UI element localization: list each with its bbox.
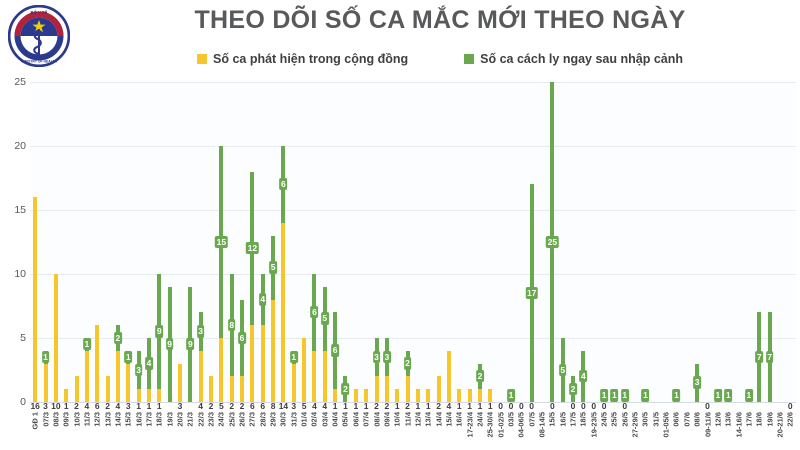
x-axis-tick-label: 10/4	[393, 412, 402, 427]
x-axis-tick: 16/5	[558, 412, 568, 450]
bar-value-label-community: 6	[247, 402, 257, 411]
bar-value-label-quarantine: 2	[404, 357, 412, 370]
bar-column[interactable]: 1	[723, 82, 733, 402]
bar-value-label-community: 2	[237, 402, 247, 411]
bar-column[interactable]: 15	[216, 82, 226, 402]
x-axis-tick: 24/5	[599, 412, 609, 450]
bar-value-label-community: 0	[547, 402, 557, 411]
x-axis-tick-label: 29/3	[269, 412, 278, 427]
x-axis-tick-label: 26/5	[620, 412, 629, 427]
bar-value-label-community: 1	[423, 402, 433, 411]
bar-value-label-quarantine: 3	[383, 351, 391, 364]
x-axis-tick: 13/4	[423, 412, 433, 450]
x-axis-tick-label: 14/4	[434, 412, 443, 427]
x-axis-tick-label: 11/3	[82, 412, 91, 426]
chart-legend: Số ca phát hiện trong cộng đồng Số ca cá…	[90, 52, 790, 66]
chart-header: BỘ Y TẾ MINISTRY OF HEALTH THEO DÕI SỐ C…	[0, 0, 800, 78]
bar-value-label-quarantine: 4	[259, 293, 267, 306]
x-axis-tick: 27-29/5	[630, 412, 640, 450]
bar-column[interactable]: 2	[568, 82, 578, 402]
x-axis-tick-label: 18/3	[155, 412, 164, 427]
x-axis-tick-label: 15/5	[548, 412, 557, 427]
x-axis-tick: 08-14/5	[537, 412, 547, 450]
bar-value-label-community: 14	[278, 402, 288, 411]
bar-column[interactable]	[516, 82, 526, 402]
x-axis-tick: 30/5	[640, 412, 650, 450]
x-axis-tick: 19/3	[164, 412, 174, 450]
bar-column[interactable]	[682, 82, 692, 402]
bar-value-label-quarantine: 3	[693, 376, 701, 389]
x-axis-tick-label: 25/5	[610, 412, 619, 427]
x-axis-tick: 17/5	[568, 412, 578, 450]
x-axis-tick: 24/4	[475, 412, 485, 450]
x-axis-tick: 07/3	[40, 412, 50, 450]
bar-value-label-community: 3	[289, 402, 299, 411]
x-axis-tick-label: 08-14/5	[538, 412, 547, 437]
bar-segment-community	[406, 376, 410, 402]
x-axis-tick-label: 20/3	[175, 412, 184, 427]
bar-column[interactable]: 5	[268, 82, 278, 402]
bar-value-label-community: 2	[102, 402, 112, 411]
bar-value-label-quarantine: 9	[186, 338, 194, 351]
x-axis-tick-label: 13/3	[103, 412, 112, 427]
x-axis-tick: 07/5	[527, 412, 537, 450]
x-axis-tick: 20-21/6	[775, 412, 785, 450]
bar-column[interactable]: 1	[40, 82, 50, 402]
x-axis-tick: 07/4	[361, 412, 371, 450]
x-axis-tick-label: 07/4	[362, 412, 371, 427]
legend-swatch-quarantine	[464, 54, 474, 64]
bar-column[interactable]: 6	[330, 82, 340, 402]
bar-column[interactable]	[702, 82, 712, 402]
x-axis-tick: 09/4	[382, 412, 392, 450]
bar-column[interactable]	[444, 82, 454, 402]
x-axis-tick: 23/3	[206, 412, 216, 450]
x-axis-tick-label: 21/3	[186, 412, 195, 427]
bar-column[interactable]: 1	[599, 82, 609, 402]
x-axis-tick: 13/6	[723, 412, 733, 450]
bar-value-label-community: 6	[258, 402, 268, 411]
bar-column[interactable]: 1	[123, 82, 133, 402]
bar-column[interactable]: 6	[309, 82, 319, 402]
x-axis-tick-label: 02/4	[310, 412, 319, 427]
x-axis-tick-label: 04/4	[331, 412, 340, 427]
bar-segment-community	[323, 351, 327, 402]
bar-column[interactable]: 17	[527, 82, 537, 402]
x-axis-tick: 20/3	[175, 412, 185, 450]
bar-value-label-community: 3	[40, 402, 50, 411]
bar-stack	[247, 172, 257, 402]
bar-value-label-community: 8	[268, 402, 278, 411]
x-axis-tick: 30/3	[278, 412, 288, 450]
x-axis-tick-label: 16/3	[134, 412, 143, 427]
bar-column[interactable]	[630, 82, 640, 402]
bar-column[interactable]: 1	[640, 82, 650, 402]
bar-segment-community	[209, 376, 213, 402]
x-axis-tick-label: 13/6	[724, 412, 733, 427]
bar-value-label-quarantine: 1	[42, 351, 50, 364]
bar-column[interactable]: 2	[113, 82, 123, 402]
bar-value-label-community: 4	[196, 402, 206, 411]
x-axis-tick-label: 22/3	[196, 412, 205, 427]
x-axis-tick: 12/4	[413, 412, 423, 450]
bar-value-label-community: 0	[578, 402, 588, 411]
x-axis-tick: 31/5	[651, 412, 661, 450]
bar-value-label-community: 0	[516, 402, 526, 411]
bar-value-label-community: 0	[702, 402, 712, 411]
legend-label-community: Số ca phát hiện trong cộng đồng	[213, 52, 408, 66]
x-axis-tick: 14/4	[433, 412, 443, 450]
bar-column[interactable]: 8	[227, 82, 237, 402]
bar-column[interactable]	[733, 82, 743, 402]
bar-column[interactable]: 3	[196, 82, 206, 402]
x-axis-tick: 17-23/4	[464, 412, 474, 450]
bar-column[interactable]: 1	[620, 82, 630, 402]
y-axis-tick-10: 10	[14, 268, 26, 280]
bar-value-label-quarantine: 9	[166, 338, 174, 351]
y-axis-tick-25: 25	[14, 76, 26, 88]
y-axis-tick-0: 0	[20, 396, 26, 408]
bar-stack	[206, 376, 216, 402]
bar-value-label-community: 5	[216, 402, 226, 411]
x-axis-tick-label: 12/3	[93, 412, 102, 427]
bar-column[interactable]: 1	[289, 82, 299, 402]
x-axis-tick: 11/4	[402, 412, 412, 450]
x-axis-tick: 29/3	[268, 412, 278, 450]
bar-segment-community	[261, 325, 265, 402]
x-axis-tick-label: 19/3	[165, 412, 174, 427]
x-axis-tick-label: 25-30/4	[486, 412, 495, 437]
x-axis-tick: 19-23/5	[589, 412, 599, 450]
x-axis-tick-label: 27-29/5	[631, 412, 640, 437]
x-axis-tick-label: 17/5	[569, 412, 578, 427]
bar-column[interactable]: 3	[692, 82, 702, 402]
bar-column[interactable]: 5	[320, 82, 330, 402]
bar-column[interactable]: 1	[506, 82, 516, 402]
bar-value-label-community: 1	[454, 402, 464, 411]
bar-segment-community	[126, 364, 130, 402]
bar-column[interactable]: 9	[185, 82, 195, 402]
x-axis-tick-label: 14-16/6	[734, 412, 743, 437]
bar-value-label-community: 1	[485, 402, 495, 411]
bar-column[interactable]: 5	[558, 82, 568, 402]
bar-value-label-quarantine: 1	[124, 351, 132, 364]
bar-column[interactable]: 9	[164, 82, 174, 402]
x-axis-tick: 06/6	[671, 412, 681, 450]
bar-value-label-community: 1	[392, 402, 402, 411]
bar-value-label-quarantine: 6	[238, 332, 246, 345]
bar-value-label-quarantine: 6	[331, 344, 339, 357]
x-axis-tick: 22/6	[785, 412, 795, 450]
x-axis-tick-label: 30/5	[641, 412, 650, 427]
bar-column[interactable]	[51, 82, 61, 402]
bar-value-label-quarantine: 5	[559, 364, 567, 377]
x-axis-tick-label: 09-11/6	[703, 412, 712, 437]
bar-column[interactable]	[30, 82, 40, 402]
x-axis-tick: GĐ 1	[30, 412, 40, 450]
x-axis-tick-label: 24/3	[217, 412, 226, 427]
bar-column[interactable]	[775, 82, 785, 402]
bar-segment-community	[292, 364, 296, 402]
x-axis-tick: 09-11/6	[702, 412, 712, 450]
x-axis-tick: 18/3	[154, 412, 164, 450]
bar-column[interactable]: 2	[475, 82, 485, 402]
bar-segment-community	[250, 325, 254, 402]
x-axis-tick-label: 17-23/4	[465, 412, 474, 437]
bar-segment-community	[75, 376, 79, 402]
bar-value-label-quarantine: 1	[600, 389, 608, 402]
bar-column[interactable]	[464, 82, 474, 402]
bar-column[interactable]	[61, 82, 71, 402]
bar-value-label-quarantine: 2	[569, 383, 577, 396]
bar-segment-community	[385, 376, 389, 402]
x-axis-tick: 12/3	[92, 412, 102, 450]
bar-column[interactable]: 1	[671, 82, 681, 402]
bar-value-label-quarantine: 2	[114, 332, 122, 345]
x-axis-tick-label: 03/5	[506, 412, 515, 427]
bar-column[interactable]: 4	[144, 82, 154, 402]
x-axis-tick-label: 19/6	[765, 412, 774, 427]
bar-value-label-quarantine: 1	[724, 389, 732, 402]
x-axis-tick-label: 09/4	[382, 412, 391, 427]
x-axis-tick: 07/6	[682, 412, 692, 450]
bar-segment-community	[178, 364, 182, 402]
bar-column[interactable]	[661, 82, 671, 402]
x-axis-tick: 17/3	[144, 412, 154, 450]
x-axis-tick-label: 01/4	[300, 412, 309, 427]
x-axis-tick-label: 27/3	[248, 412, 257, 427]
legend-swatch-community	[197, 54, 207, 64]
bar-column[interactable]: 3	[382, 82, 392, 402]
x-axis-tick-label: 04-06/5	[517, 412, 526, 437]
bar-segment-community	[44, 364, 48, 402]
bar-value-label-community: 4	[113, 402, 123, 411]
bar-column[interactable]: 1	[713, 82, 723, 402]
legend-item-quarantine: Số ca cách ly ngay sau nhập cảnh	[464, 52, 683, 66]
bar-stack	[237, 300, 247, 402]
x-axis-tick: 22/3	[196, 412, 206, 450]
bar-segment-community	[375, 376, 379, 402]
bar-column[interactable]	[785, 82, 795, 402]
bar-column[interactable]: 12	[247, 82, 257, 402]
x-axis-tick: 26/3	[237, 412, 247, 450]
bar-column[interactable]	[361, 82, 371, 402]
x-axis-tick-label: 17/6	[744, 412, 753, 427]
bar-column[interactable]	[413, 82, 423, 402]
y-axis-tick-5: 5	[20, 332, 26, 344]
bar-value-label-community: 0	[568, 402, 578, 411]
bar-value-label-community: 4	[320, 402, 330, 411]
x-axis-tick-label: 12/4	[413, 412, 422, 427]
bar-value-label-quarantine: 4	[145, 357, 153, 370]
x-axis-tick-label: 28/3	[258, 412, 267, 427]
bar-value-label-community: 6	[92, 402, 102, 411]
bar-value-label-quarantine: 12	[246, 242, 258, 255]
ministry-of-health-logo-icon: BỘ Y TẾ MINISTRY OF HEALTH	[8, 5, 70, 67]
x-axis-tick: 15/3	[123, 412, 133, 450]
bar-stack	[433, 376, 443, 402]
svg-text:BỘ Y TẾ: BỘ Y TẾ	[30, 10, 47, 15]
bar-column[interactable]: 1	[609, 82, 619, 402]
bar-value-label-quarantine: 1	[642, 389, 650, 402]
bar-segment-community	[219, 338, 223, 402]
bar-column[interactable]	[433, 82, 443, 402]
bar-segment-community	[437, 376, 441, 402]
bar-column[interactable]	[392, 82, 402, 402]
legend-label-quarantine: Số ca cách ly ngay sau nhập cảnh	[480, 52, 683, 66]
bar-column[interactable]	[102, 82, 112, 402]
x-axis-tick-label: 09/3	[62, 412, 71, 427]
bar-value-label-community: 0	[527, 402, 537, 411]
bar-series-container: 1121349993158612456165623322117255241111…	[30, 82, 796, 402]
bar-value-label-community: 0	[620, 402, 630, 411]
bar-column[interactable]	[651, 82, 661, 402]
bar-stack	[320, 287, 330, 402]
x-axis-tick-label: 22/6	[786, 412, 795, 427]
bar-column[interactable]	[589, 82, 599, 402]
bar-stack	[92, 325, 102, 402]
x-axis-tick-label: 08/3	[51, 412, 60, 427]
bar-value-label-quarantine: 1	[714, 389, 722, 402]
x-axis-tick-label: 20-21/6	[775, 412, 784, 437]
x-axis-tick: 05/4	[340, 412, 350, 450]
bar-column[interactable]: 4	[258, 82, 268, 402]
bar-column[interactable]: 3	[133, 82, 143, 402]
x-axis-tick: 18/6	[754, 412, 764, 450]
bar-value-label-quarantine: 1	[507, 389, 515, 402]
x-axis-tick-label: 10/3	[72, 412, 81, 427]
x-axis-tick-label: 26/3	[238, 412, 247, 427]
bar-stack	[330, 312, 340, 402]
plot-area: 0510152025 11213499931586124561656233221…	[0, 82, 800, 402]
page-title: THEO DÕI SỐ CA MẮC MỚI THEO NGÀY	[90, 6, 790, 35]
x-axis-tick: 02/4	[309, 412, 319, 450]
bar-value-label-quarantine: 15	[215, 236, 227, 249]
bar-value-label-community: 2	[206, 402, 216, 411]
bar-column[interactable]	[175, 82, 185, 402]
bar-value-label-community: 4	[309, 402, 319, 411]
bar-value-label-community: 1	[154, 402, 164, 411]
bar-column[interactable]: 7	[764, 82, 774, 402]
y-axis-tick-20: 20	[14, 140, 26, 152]
bar-column[interactable]: 6	[278, 82, 288, 402]
bar-segment-community	[240, 376, 244, 402]
bar-segment-community	[106, 376, 110, 402]
x-axis-tick: 03/4	[320, 412, 330, 450]
x-axis-tick-label: 01-02/5	[496, 412, 505, 437]
x-axis-tick: 17/6	[744, 412, 754, 450]
bar-column[interactable]: 1	[744, 82, 754, 402]
x-axis-tick: 24/3	[216, 412, 226, 450]
bar-stack	[299, 338, 309, 402]
x-axis-tick: 14-16/6	[733, 412, 743, 450]
bar-segment-community	[33, 197, 37, 402]
bar-column[interactable]	[495, 82, 505, 402]
bar-value-label-community: 0	[785, 402, 795, 411]
bar-value-label-quarantine: 25	[546, 236, 558, 249]
x-axis-tick: 06/4	[351, 412, 361, 450]
bar-value-label-quarantine: 8	[228, 319, 236, 332]
bar-value-label-community: 2	[227, 402, 237, 411]
x-axis-tick: 01/4	[299, 412, 309, 450]
bar-segment-community	[271, 300, 275, 402]
bar-stack	[382, 338, 392, 402]
x-axis-tick: 03/5	[506, 412, 516, 450]
bar-stack	[154, 274, 164, 402]
bar-value-label-community: 1	[351, 402, 361, 411]
bar-value-label-community: 2	[402, 402, 412, 411]
x-axis-tick-label: 16/4	[455, 412, 464, 427]
x-axis-tick-label: 15/3	[124, 412, 133, 427]
x-axis-tick-label: 07/3	[41, 412, 50, 427]
bar-value-label-community: 2	[371, 402, 381, 411]
x-axis-tick: 09/3	[61, 412, 71, 450]
bar-stack	[216, 146, 226, 402]
bar-value-label-quarantine: 6	[311, 306, 319, 319]
bar-column[interactable]	[454, 82, 464, 402]
chart-page: BỘ Y TẾ MINISTRY OF HEALTH THEO DÕI SỐ C…	[0, 0, 800, 450]
bar-value-label-quarantine: 2	[476, 370, 484, 383]
bar-column[interactable]	[92, 82, 102, 402]
x-axis-tick-label: 08/4	[372, 412, 381, 427]
x-axis-tick: 18/5	[578, 412, 588, 450]
bar-value-label-community: 0	[506, 402, 516, 411]
bar-column[interactable]	[71, 82, 81, 402]
bar-column[interactable]	[351, 82, 361, 402]
bar-column[interactable]	[299, 82, 309, 402]
legend-item-community: Số ca phát hiện trong cộng đồng	[197, 52, 408, 66]
x-axis-tick: 16/3	[133, 412, 143, 450]
bar-value-label-community: 1	[475, 402, 485, 411]
bar-column[interactable]: 9	[154, 82, 164, 402]
x-axis-tick-label: 24/5	[600, 412, 609, 427]
bar-value-label-quarantine: 5	[269, 261, 277, 274]
x-axis-tick-label: 03/4	[320, 412, 329, 427]
bar-value-label-quarantine: 6	[280, 178, 288, 191]
x-axis: GĐ 107/308/309/310/311/312/313/314/315/3…	[30, 412, 796, 450]
bar-column[interactable]: 4	[578, 82, 588, 402]
bar-value-label-community: 2	[433, 402, 443, 411]
bar-value-label-quarantine: 1	[83, 338, 91, 351]
bar-segment-community	[116, 351, 120, 402]
x-axis-tick-label: 25/3	[227, 412, 236, 427]
x-axis-tick: 11/3	[82, 412, 92, 450]
bar-column[interactable]: 1	[82, 82, 92, 402]
bar-value-label-community: 3	[123, 402, 133, 411]
bar-column[interactable]: 3	[371, 82, 381, 402]
bar-column[interactable]	[423, 82, 433, 402]
bar-segment-community	[281, 223, 285, 402]
bar-column[interactable]	[485, 82, 495, 402]
x-axis-tick-label: 23/3	[207, 412, 216, 427]
bar-segment-community	[199, 351, 203, 402]
bar-column[interactable]: 2	[402, 82, 412, 402]
bar-value-label-community: 1	[340, 402, 350, 411]
bar-column[interactable]: 7	[754, 82, 764, 402]
x-axis-tick-label: 07/6	[682, 412, 691, 427]
bar-column[interactable]: 2	[340, 82, 350, 402]
x-axis-tick-label: 12/6	[713, 412, 722, 427]
bar-column[interactable]: 25	[547, 82, 557, 402]
bar-value-label-community: 0	[495, 402, 505, 411]
bar-value-label-quarantine: 4	[580, 370, 588, 383]
bar-value-label-community: 5	[299, 402, 309, 411]
bar-value-label-quarantine: 1	[745, 389, 753, 402]
bar-segment-community	[54, 274, 58, 402]
x-axis-tick-label: 13/4	[424, 412, 433, 427]
x-axis-tick: 01-05/6	[661, 412, 671, 450]
bar-value-label-community: 1	[133, 402, 143, 411]
